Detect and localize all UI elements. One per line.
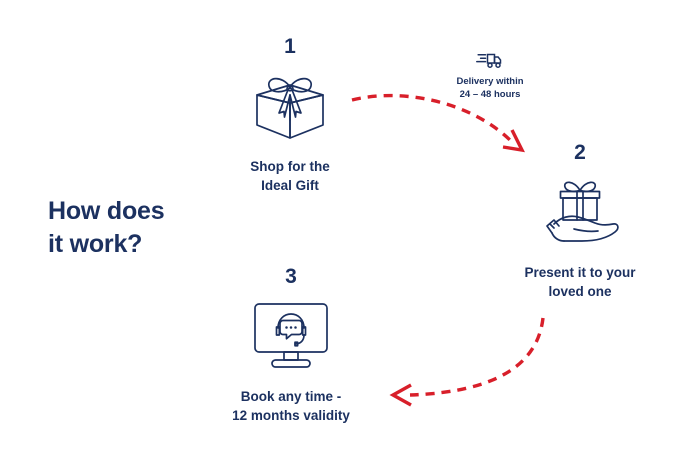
delivery-note-line-1: Delivery within [425,75,555,88]
arrow-step2-to-step3 [393,318,543,405]
step-1-number: 1 [205,36,375,57]
step-2-number: 2 [490,142,670,163]
delivery-note-text: Delivery within 24 – 48 hours [425,75,555,101]
step-3-number: 3 [198,266,384,287]
step-3-caption-line-2: 12 months validity [198,406,384,425]
delivery-truck-icon [425,48,555,72]
page-title-line-1: How does [48,195,238,228]
infographic-canvas: How does it work? De [0,0,700,457]
step-2-caption: Present it to your loved one [490,263,670,301]
gift-box-icon [205,63,375,149]
step-1-caption: Shop for the Ideal Gift [205,157,375,195]
step-1-caption-line-2: Ideal Gift [205,176,375,195]
monitor-support-icon [198,293,384,379]
page-title-line-2: it work? [48,228,238,261]
delivery-note-line-2: 24 – 48 hours [425,88,555,101]
step-3-caption: Book any time - 12 months validity [198,387,384,425]
gift-in-hand-icon [490,169,670,255]
step-2-caption-line-2: loved one [490,282,670,301]
step-1: 1 Shop for the Ideal Gift [205,36,375,195]
step-2-caption-line-1: Present it to your [490,263,670,282]
step-3: 3 [198,266,384,425]
page-title: How does it work? [48,195,238,261]
delivery-note: Delivery within 24 – 48 hours [425,48,555,101]
step-3-caption-line-1: Book any time - [198,387,384,406]
step-1-caption-line-1: Shop for the [205,157,375,176]
step-2: 2 P [490,142,670,301]
